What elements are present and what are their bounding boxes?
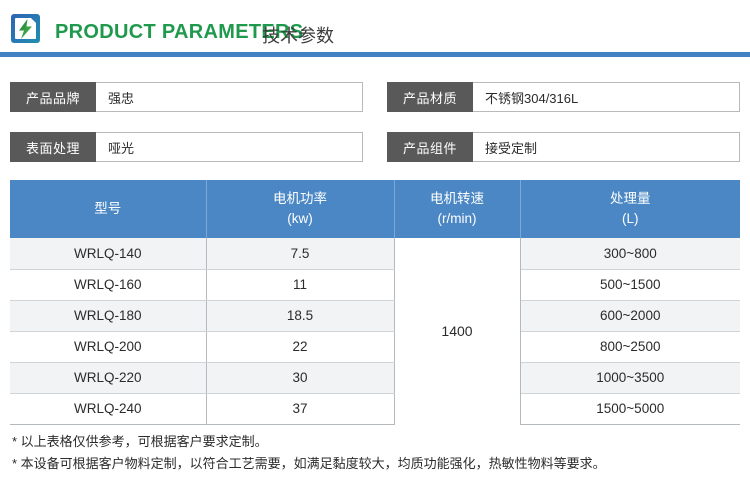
- table-row: WRLQ-180 18.5 600~2000: [10, 300, 740, 331]
- page-header: PRODUCT PARAMETERS 技术参数: [0, 0, 750, 57]
- spec-value-surface: 哑光: [96, 132, 363, 162]
- column-header-power: 电机功率 (kw): [206, 180, 394, 238]
- cell-power: 7.5: [206, 238, 394, 269]
- column-header-rpm-line2: (r/min): [438, 211, 477, 226]
- spec-item-surface: 表面处理 哑光: [10, 132, 375, 162]
- spec-item-brand: 产品品牌 强忠: [10, 82, 375, 112]
- cell-capacity: 800~2500: [520, 331, 740, 362]
- page-title-cn: 技术参数: [262, 22, 334, 48]
- cell-power: 18.5: [206, 300, 394, 331]
- parameters-table-wrapper: 型号 电机功率 (kw) 电机转速 (r/min) 处理量 (L): [10, 180, 740, 425]
- spec-item-material: 产品材质 不锈钢304/316L: [375, 82, 740, 112]
- spec-boxes: 产品品牌 强忠 产品材质 不锈钢304/316L 表面处理 哑光 产品组件 接受…: [10, 82, 740, 164]
- table-row: WRLQ-240 37 1500~5000: [10, 393, 740, 424]
- logo-icon: [10, 13, 42, 45]
- cell-power: 30: [206, 362, 394, 393]
- column-header-capacity-line2: (L): [622, 211, 639, 226]
- header-divider: [0, 52, 750, 57]
- spec-value-brand: 强忠: [96, 82, 363, 112]
- spec-value-components: 接受定制: [473, 132, 740, 162]
- spec-label-surface: 表面处理: [10, 132, 96, 162]
- spec-label-components: 产品组件: [387, 132, 473, 162]
- cell-model: WRLQ-180: [10, 300, 206, 331]
- spec-item-components: 产品组件 接受定制: [375, 132, 740, 162]
- column-header-model: 型号: [10, 180, 206, 238]
- table-row: WRLQ-140 7.5 1400 300~800: [10, 238, 740, 269]
- parameters-table: 型号 电机功率 (kw) 电机转速 (r/min) 处理量 (L): [10, 180, 740, 425]
- cell-model: WRLQ-140: [10, 238, 206, 269]
- spec-value-material: 不锈钢304/316L: [473, 82, 740, 112]
- cell-capacity: 1500~5000: [520, 393, 740, 424]
- cell-rpm-merged: 1400: [394, 238, 520, 424]
- spec-label-brand: 产品品牌: [10, 82, 96, 112]
- column-header-rpm: 电机转速 (r/min): [394, 180, 520, 238]
- cell-power: 37: [206, 393, 394, 424]
- column-header-power-line2: (kw): [287, 211, 313, 226]
- spec-row-2: 表面处理 哑光 产品组件 接受定制: [10, 132, 740, 162]
- product-parameters-page: PRODUCT PARAMETERS 技术参数 产品品牌 强忠 产品材质 不锈钢…: [0, 0, 750, 498]
- spec-label-material: 产品材质: [387, 82, 473, 112]
- footer-notes: * 以上表格仅供参考，可根据客户要求定制。 * 本设备可根据客户物料定制，以符合…: [12, 432, 750, 476]
- cell-capacity: 600~2000: [520, 300, 740, 331]
- note-line-1: * 以上表格仅供参考，可根据客户要求定制。: [12, 432, 750, 452]
- column-header-capacity: 处理量 (L): [520, 180, 740, 238]
- column-header-model-line1: 型号: [94, 201, 121, 216]
- table-row: WRLQ-200 22 800~2500: [10, 331, 740, 362]
- table-row: WRLQ-220 30 1000~3500: [10, 362, 740, 393]
- table-header-row: 型号 电机功率 (kw) 电机转速 (r/min) 处理量 (L): [10, 180, 740, 238]
- column-header-power-line1: 电机功率: [273, 191, 327, 206]
- column-header-capacity-line1: 处理量: [610, 191, 651, 206]
- cell-capacity: 300~800: [520, 238, 740, 269]
- cell-model: WRLQ-200: [10, 331, 206, 362]
- table-row: WRLQ-160 11 500~1500: [10, 269, 740, 300]
- cell-power: 22: [206, 331, 394, 362]
- cell-capacity: 1000~3500: [520, 362, 740, 393]
- cell-model: WRLQ-240: [10, 393, 206, 424]
- cell-model: WRLQ-160: [10, 269, 206, 300]
- cell-model: WRLQ-220: [10, 362, 206, 393]
- column-header-rpm-line1: 电机转速: [430, 191, 484, 206]
- spec-row-1: 产品品牌 强忠 产品材质 不锈钢304/316L: [10, 82, 740, 112]
- note-line-2: * 本设备可根据客户物料定制，以符合工艺需要，如满足黏度较大，均质功能强化，热敏…: [12, 454, 750, 474]
- cell-capacity: 500~1500: [520, 269, 740, 300]
- cell-power: 11: [206, 269, 394, 300]
